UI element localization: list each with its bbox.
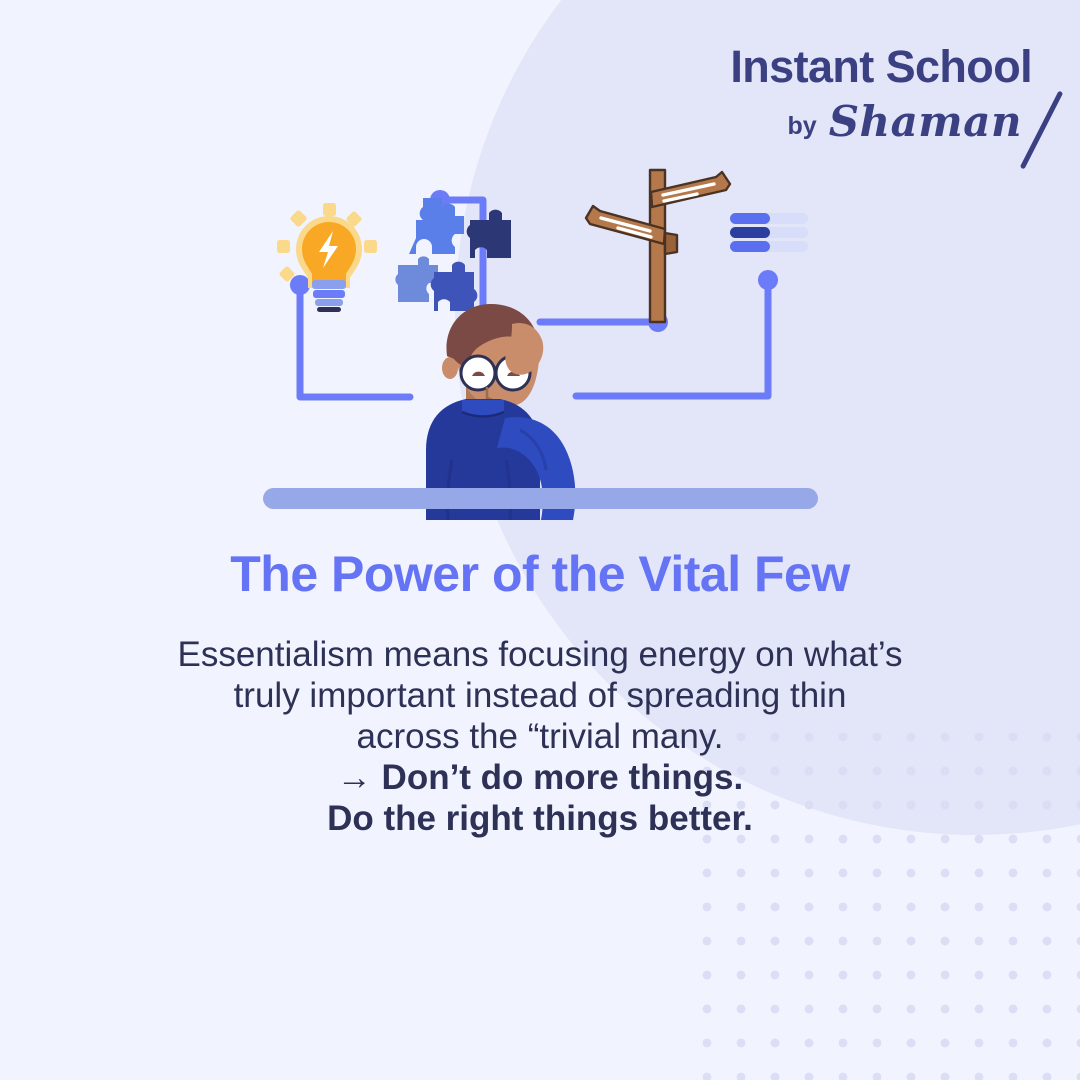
- base-bar: [263, 488, 818, 509]
- signpost-icon: [586, 170, 730, 322]
- list-bar-fill-2: [730, 227, 770, 238]
- connector-dot-books: [758, 270, 778, 290]
- body-copy: Essentialism means focusing energy on wh…: [100, 634, 980, 839]
- puzzle-pieces-icon: [395, 198, 511, 311]
- logo-title: Instant School: [730, 44, 1032, 89]
- lightbulb-base-1: [312, 280, 346, 289]
- lightbulb-base-2: [313, 290, 345, 298]
- confused-person: [426, 304, 575, 520]
- list-bar-fill-1: [730, 213, 770, 224]
- body-line-1: Essentialism means focusing energy on wh…: [100, 634, 980, 675]
- puzzle-piece-left: [395, 256, 438, 302]
- list-bar-fill-3: [730, 241, 770, 252]
- connector-dot-bulb: [290, 275, 310, 295]
- body-line-3: across the “trivial many.: [100, 716, 980, 757]
- poster-canvas: Instant School by Shaman: [0, 0, 1080, 1080]
- body-line-4: → Don’t do more things.: [100, 757, 980, 798]
- body-line-2: truly important instead of spreading thi…: [100, 675, 980, 716]
- signpost-nub: [665, 233, 677, 254]
- connector-dots: [290, 190, 778, 332]
- page-title: The Power of the Vital Few: [0, 545, 1080, 603]
- hero-illustration: [0, 100, 1080, 520]
- lightbulb-contact: [317, 307, 341, 312]
- puzzle-piece-top: [409, 198, 464, 254]
- body-line-5: Do the right things better.: [100, 798, 980, 839]
- lightbulb-icon: [277, 203, 377, 312]
- list-bars-icon: [730, 213, 808, 252]
- lightbulb-base-3: [315, 299, 343, 306]
- puzzle-piece-right: [467, 210, 511, 258]
